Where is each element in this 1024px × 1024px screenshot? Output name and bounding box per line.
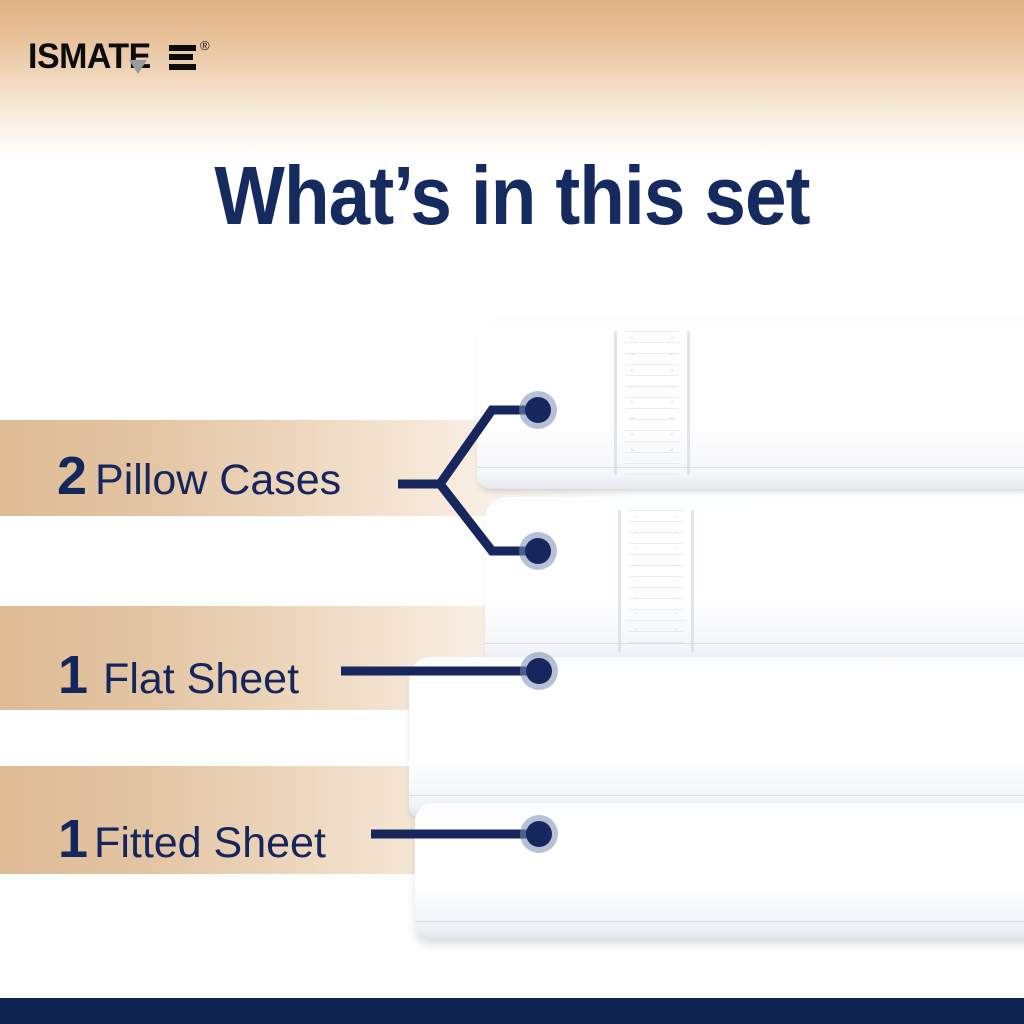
fabric-crease: [477, 467, 1024, 468]
product-layer-flat-sheet: [409, 657, 1024, 817]
dot-core: [526, 658, 552, 684]
item-name-fitted-sheet: Fitted Sheet: [94, 822, 326, 865]
footer-bar: [0, 998, 1024, 1024]
dot-core: [525, 397, 551, 423]
fabric-crease: [415, 921, 1024, 922]
quantity-flat-sheet: 1: [58, 648, 87, 702]
fabric-highlight: [485, 497, 1024, 574]
callout-label-flat-sheet: 1 Flat Sheet: [58, 648, 299, 702]
quantity-fitted-sheet: 1: [58, 812, 87, 866]
callout-dot-pillow-case-bottom[interactable]: [519, 532, 557, 570]
product-layer-pillow-case-bottom: [485, 497, 1024, 665]
logo-triangle-icon: [129, 60, 147, 74]
chevron-embroidery-icon: [625, 331, 679, 475]
fabric-highlight: [477, 317, 1024, 396]
product-layer-fitted-sheet: [415, 803, 1024, 939]
callout-dot-pillow-case-top[interactable]: [519, 391, 557, 429]
fabric-crease: [409, 795, 1024, 796]
brand-logo: ISMATE ®: [28, 34, 248, 80]
callout-dot-flat-sheet[interactable]: [520, 652, 558, 690]
quantity-pillow-cases: 2: [57, 449, 86, 503]
fabric-crease: [485, 643, 1024, 644]
callout-label-fitted-sheet: 1 Fitted Sheet: [58, 812, 326, 866]
callout-dot-fitted-sheet[interactable]: [520, 815, 558, 853]
item-name-pillow-cases: Pillow Cases: [95, 459, 341, 502]
dot-core: [526, 821, 552, 847]
item-name-flat-sheet: Flat Sheet: [103, 658, 299, 701]
callout-label-pillow-cases: 2 Pillow Cases: [57, 449, 341, 503]
fabric-highlight: [415, 803, 1024, 866]
dot-core: [525, 538, 551, 564]
fabric-highlight: [409, 657, 1024, 731]
top-gradient-background: [0, 0, 1024, 160]
chevron-embroidery-icon: [629, 510, 683, 651]
infographic-canvas: ISMATE ® What’s in this set: [0, 0, 1024, 1024]
page-title: What’s in this set: [51, 148, 973, 244]
registered-trademark-icon: ®: [200, 38, 210, 53]
product-layer-pillow-case-top: [477, 317, 1024, 489]
logo-e-bars-icon: [169, 45, 196, 70]
product-image: [395, 305, 1024, 905]
